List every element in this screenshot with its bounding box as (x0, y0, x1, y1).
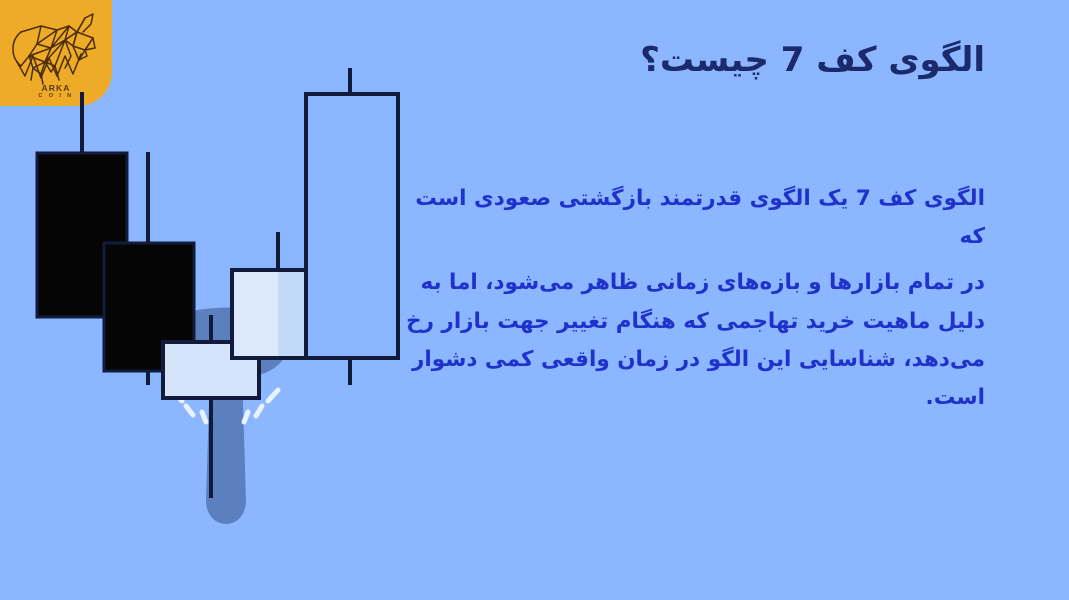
candlestick-chart-svg (20, 60, 420, 540)
body-copy: الگوی کف 7 یک الگوی قدرتمند بازگشتی صعود… (405, 180, 985, 418)
poster-canvas: ARKA C O I N (0, 0, 1069, 600)
body-paragraph: در تمام بازارها و بازه‌های زمانی ظاهر می… (405, 264, 985, 417)
body-paragraph: الگوی کف 7 یک الگوی قدرتمند بازگشتی صعود… (405, 180, 985, 257)
candlestick-illustration (20, 60, 420, 540)
text-column: الگوی کف 7 چیست؟ الگوی کف 7 یک الگوی قدر… (405, 38, 985, 421)
page-title: الگوی کف 7 چیست؟ (405, 38, 985, 84)
candle-5 (306, 68, 398, 385)
